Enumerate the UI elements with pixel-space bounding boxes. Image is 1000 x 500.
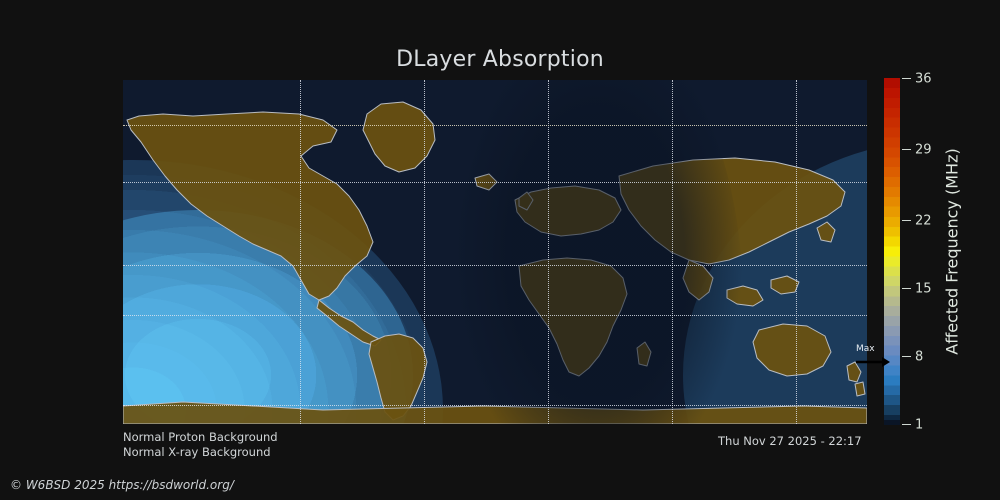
copyright-notice: © W6BSD 2025 https://bsdworld.org/ [10, 478, 234, 492]
xray-background-note: Normal X-ray Background [123, 445, 271, 459]
meridian-60w [424, 80, 425, 424]
colorbar-label-29: 29 [915, 143, 932, 158]
world-map-panel[interactable] [123, 80, 867, 424]
parallel-30s [123, 315, 867, 316]
colorbar-tick-8 [902, 356, 911, 357]
page-title: DLayer Absorption [0, 47, 1000, 72]
parallel-60s [123, 405, 867, 406]
colorbar-label-8: 8 [915, 350, 923, 365]
max-marker-label: Max [856, 344, 875, 354]
dlayer-absorption-page: DLayer Absorption [0, 0, 1000, 500]
colorbar-tick-22 [902, 220, 911, 221]
meridian-120e [796, 80, 797, 424]
timestamp: Thu Nov 27 2025 - 22:17 [718, 434, 862, 448]
colorbar[interactable]: 36 29 22 15 8 1 [884, 78, 900, 425]
colorbar-tick-1 [902, 424, 911, 425]
meridian-120w [300, 80, 301, 424]
meridian-0 [548, 80, 549, 424]
right-arrow-icon [856, 356, 890, 368]
colorbar-label-36: 36 [915, 72, 932, 87]
colorbar-tick-29 [902, 149, 911, 150]
colorbar-tick-36 [902, 78, 911, 79]
parallel-equator [123, 265, 867, 266]
proton-background-note: Normal Proton Background [123, 430, 278, 444]
colorbar-axis-label: Affected Frequency (MHz) [941, 78, 963, 425]
parallel-60n [123, 125, 867, 126]
max-marker: Max [856, 344, 892, 368]
colorbar-tick-15 [902, 288, 911, 289]
colorbar-gradient [884, 78, 900, 425]
colorbar-label-1: 1 [915, 418, 923, 433]
colorbar-axis-label-text: Affected Frequency (MHz) [943, 148, 962, 354]
meridian-60e [672, 80, 673, 424]
colorbar-label-15: 15 [915, 282, 932, 297]
colorbar-label-22: 22 [915, 214, 932, 229]
graticule-layer [123, 80, 867, 424]
parallel-30n [123, 182, 867, 183]
